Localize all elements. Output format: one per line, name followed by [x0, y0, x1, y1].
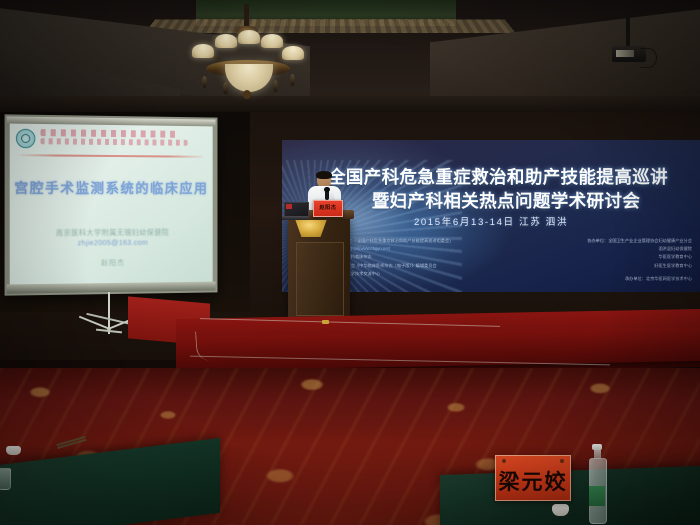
projection-screen: 宫腔手术监测系统的临床应用 南京医科大学附属无锡妇幼保健院 zhjie2005@…: [5, 114, 218, 295]
chandelier-crystal-drop: [202, 76, 207, 88]
slide-surface: 宫腔手术监测系统的临床应用 南京医科大学附属无锡妇幼保健院 zhjie2005@…: [10, 124, 213, 287]
speaker-hair: [316, 171, 332, 179]
bottle-label: [589, 486, 605, 506]
slide-title: 宫腔手术监测系统的临床应用: [10, 176, 213, 197]
projector-mount-arm: [626, 14, 630, 48]
lectern-top: 赵阳杰: [284, 210, 354, 219]
water-bottle-icon: [589, 444, 605, 522]
banner-credits-right: 协办单位：全国卫生产业企业管理协会妇幼健康产业分会 泗洪县妇幼保健院 华医医学教…: [544, 237, 692, 270]
lectern-panel: [296, 242, 344, 316]
slide-email: zhjie2005@163.com: [10, 237, 213, 247]
chandelier-finial: [243, 90, 251, 99]
bottle-cap: [592, 444, 602, 450]
chandelier-crystal-drop: [273, 80, 278, 92]
chandelier-lamp-cup: [238, 30, 260, 44]
banner-credits-left: 主办单位：「全国产科危急重症救治和助产技能提高巡讲组委会」 中国妇产科网(www…: [334, 237, 514, 278]
cable-connector: [322, 320, 329, 324]
banner-credit-item: 华医网医学技术交流中心: [334, 270, 514, 278]
banner-co-item: 好医生医学教育中心: [544, 262, 692, 270]
slide-header-ornament: [40, 129, 177, 138]
screen-bottom-bar: [7, 282, 216, 294]
chandelier-crystal-drop: [290, 74, 295, 86]
chandelier-lamp-cup: [261, 34, 283, 48]
chandelier-bowl: [225, 64, 273, 92]
banner-support-item: 北京华医网医学技术中心: [646, 276, 692, 281]
banner-support-label: 承办单位：: [625, 276, 646, 281]
banner-credit-item: 中国妇产科网(www.cbgyn.net): [334, 245, 514, 253]
placard-pin: [502, 459, 506, 463]
banner-co-label: 协办单位：: [587, 238, 608, 243]
lectern: 赵阳杰: [288, 216, 350, 328]
slide-header-ornament: [40, 138, 187, 146]
chandelier-icon: [178, 4, 318, 100]
chandelier-crystal-drop: [223, 82, 228, 94]
banner-support-right: 承办单位：北京华医网医学技术中心: [532, 275, 692, 283]
banner-credit-item: 中华医学会《中华临床医师杂志（电子版）》编辑委员会: [334, 262, 514, 270]
banner-title-line2: 暨妇产科相关热点问题学术研讨会: [306, 188, 700, 213]
banner-co-item: 全国卫生产业企业管理协会妇幼健康产业分会: [608, 238, 692, 243]
microphone-icon: [325, 189, 329, 200]
placard-pin: [560, 459, 564, 463]
banner-credit-item: 中国妇产科临床杂志: [334, 253, 514, 261]
chandelier-lamp-cup: [215, 34, 237, 48]
banner-co-item: 泗洪县妇幼保健院: [544, 245, 692, 253]
slide-author: 赵阳杰: [10, 257, 213, 269]
bottle-neck: [594, 450, 601, 459]
banner-title-line1: 全国产科危急重症救治和助产技能提高巡讲: [296, 164, 700, 189]
speaker-name-card-text: 赵阳杰: [314, 204, 342, 211]
conference-hall-photo: 宫腔手术监测系统的临床应用 南京医科大学附属无锡妇幼保健院 zhjie2005@…: [0, 0, 700, 525]
delegate-name-text: 梁元姣: [496, 466, 570, 496]
banner-co-item: 华医医学教育中心: [544, 253, 692, 261]
banner-lead-value: 「全国产科危急重症救治和助产技能提高巡讲组委会」: [355, 238, 453, 243]
speaker-name-card: 赵阳杰: [313, 200, 343, 217]
projector-cable: [640, 48, 657, 68]
drinking-glass: [0, 468, 11, 490]
delegate-name-placard: 梁元姣: [495, 455, 571, 501]
slide-divider: [20, 154, 203, 157]
lectern-emblem-icon: [294, 220, 328, 237]
laptop-base[interactable]: [282, 216, 308, 220]
chandelier-lamp-cup: [282, 46, 304, 60]
chandelier-lamp-cup: [192, 44, 214, 58]
tea-cup: [6, 446, 21, 455]
tea-cup: [552, 504, 569, 516]
hospital-logo-icon: [16, 129, 35, 149]
